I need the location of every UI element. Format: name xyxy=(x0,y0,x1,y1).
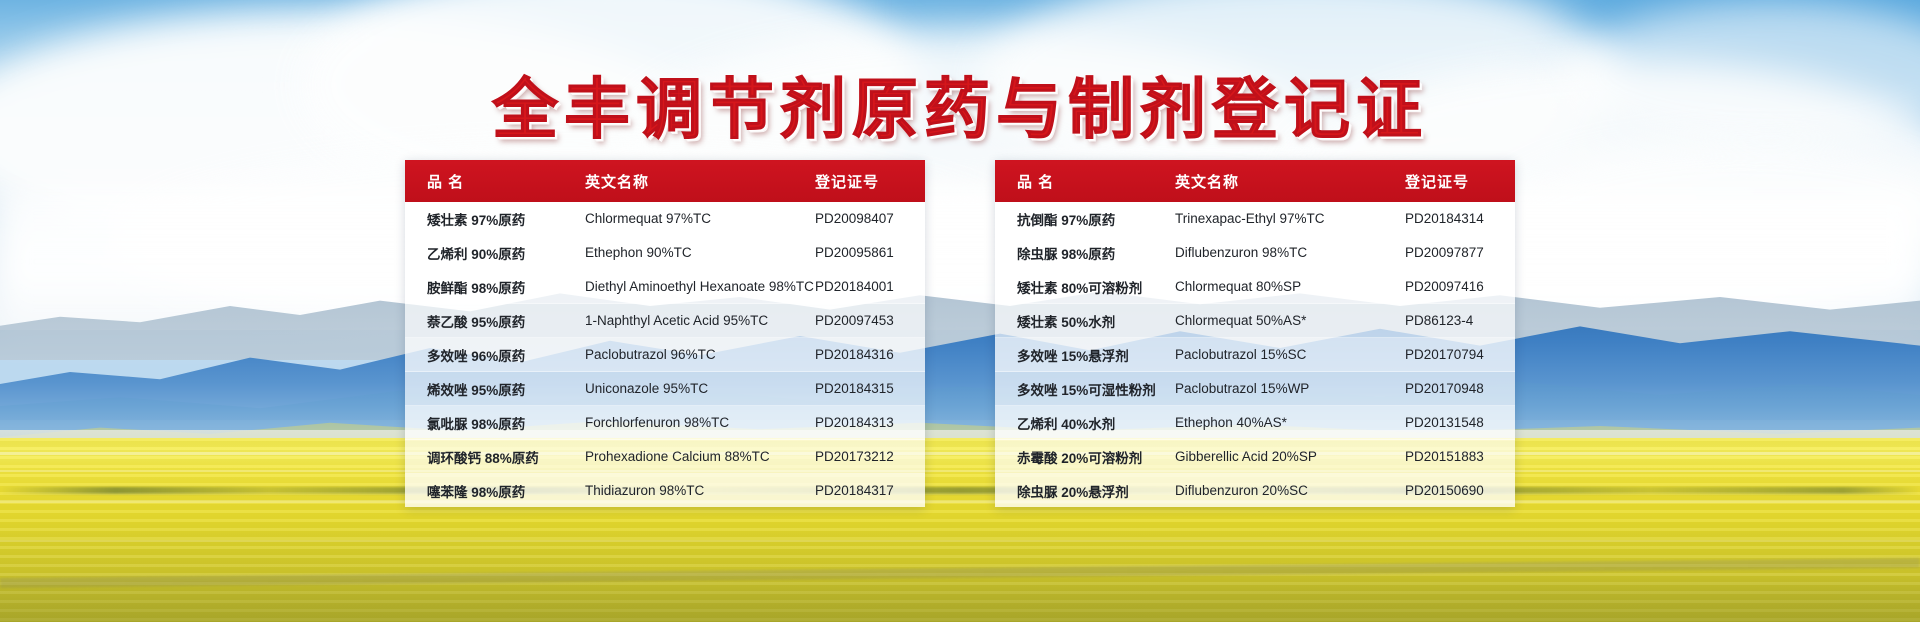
cell-registration-number: PD86123-4 xyxy=(1405,313,1515,328)
table-row: 多效唑 15%悬浮剂Paclobutrazol 15%SCPD20170794 xyxy=(995,338,1515,372)
table-row: 矮壮素 97%原药Chlormequat 97%TCPD20098407 xyxy=(405,202,925,236)
cell-english-name: Chlormequat 97%TC xyxy=(585,211,815,226)
table-body: 矮壮素 97%原药Chlormequat 97%TCPD20098407乙烯利 … xyxy=(405,202,925,507)
cell-english-name: Thidiazuron 98%TC xyxy=(585,483,815,498)
table-header-row: 品 名英文名称登记证号 xyxy=(995,160,1515,202)
table-row: 调环酸钙 88%原药Prohexadione Calcium 88%TCPD20… xyxy=(405,440,925,474)
cell-product-name: 噻苯隆 98%原药 xyxy=(405,481,585,501)
cell-english-name: Prohexadione Calcium 88%TC xyxy=(585,449,815,464)
cell-registration-number: PD20184317 xyxy=(815,483,925,498)
cell-registration-number: PD20184316 xyxy=(815,347,925,362)
treeline xyxy=(0,487,1920,494)
cell-product-name: 多效唑 15%可湿性粉剂 xyxy=(995,379,1175,399)
table-row: 氯吡脲 98%原药Forchlorfenuron 98%TCPD20184313 xyxy=(405,406,925,440)
cell-english-name: Diethyl Aminoethyl Hexanoate 98%TC xyxy=(585,279,815,294)
cell-registration-number: PD20184313 xyxy=(815,415,925,430)
table-row: 烯效唑 95%原药Uniconazole 95%TCPD20184315 xyxy=(405,372,925,406)
registration-table-left: 品 名英文名称登记证号矮壮素 97%原药Chlormequat 97%TCPD2… xyxy=(405,160,925,507)
column-header-product-name: 品 名 xyxy=(995,171,1175,192)
cell-product-name: 调环酸钙 88%原药 xyxy=(405,447,585,467)
cell-product-name: 赤霉酸 20%可溶粉剂 xyxy=(995,447,1175,467)
cell-registration-number: PD20097877 xyxy=(1405,245,1515,260)
table-row: 除虫脲 20%悬浮剂Diflubenzuron 20%SCPD20150690 xyxy=(995,474,1515,507)
cell-registration-number: PD20131548 xyxy=(1405,415,1515,430)
cell-registration-number: PD20151883 xyxy=(1405,449,1515,464)
cell-english-name: Diflubenzuron 98%TC xyxy=(1175,245,1405,260)
cell-english-name: Ethephon 90%TC xyxy=(585,245,815,260)
cell-registration-number: PD20184315 xyxy=(815,381,925,396)
table-row: 多效唑 96%原药Paclobutrazol 96%TCPD20184316 xyxy=(405,338,925,372)
cell-product-name: 烯效唑 95%原药 xyxy=(405,379,585,399)
table-row: 赤霉酸 20%可溶粉剂Gibberellic Acid 20%SPPD20151… xyxy=(995,440,1515,474)
cell-english-name: Chlormequat 80%SP xyxy=(1175,279,1405,294)
field-divider-line xyxy=(0,540,1920,542)
column-header-registration-number: 登记证号 xyxy=(1405,171,1515,192)
cell-english-name: Trinexapac-Ethyl 97%TC xyxy=(1175,211,1405,226)
cell-english-name: Paclobutrazol 15%WP xyxy=(1175,381,1405,396)
table-row: 多效唑 15%可湿性粉剂Paclobutrazol 15%WPPD2017094… xyxy=(995,372,1515,406)
cell-product-name: 矮壮素 50%水剂 xyxy=(995,311,1175,331)
cell-registration-number: PD20173212 xyxy=(815,449,925,464)
cell-registration-number: PD20170794 xyxy=(1405,347,1515,362)
page-title-wrap: 全丰调节剂原药与制剂登记证 xyxy=(0,56,1920,152)
table-row: 抗倒酯 97%原药Trinexapac-Ethyl 97%TCPD2018431… xyxy=(995,202,1515,236)
column-header-english-name: 英文名称 xyxy=(585,171,815,192)
cell-english-name: Diflubenzuron 20%SC xyxy=(1175,483,1405,498)
table-row: 乙烯利 40%水剂Ethephon 40%AS*PD20131548 xyxy=(995,406,1515,440)
cell-registration-number: PD20170948 xyxy=(1405,381,1515,396)
banner-stage: 全丰调节剂原药与制剂登记证 品 名英文名称登记证号矮壮素 97%原药Chlorm… xyxy=(0,0,1920,622)
cell-product-name: 萘乙酸 95%原药 xyxy=(405,311,585,331)
table-row: 除虫脲 98%原药Diflubenzuron 98%TCPD20097877 xyxy=(995,236,1515,270)
cell-product-name: 氯吡脲 98%原药 xyxy=(405,413,585,433)
field-divider-line xyxy=(0,500,1920,503)
table-row: 噻苯隆 98%原药Thidiazuron 98%TCPD20184317 xyxy=(405,474,925,507)
cell-product-name: 多效唑 15%悬浮剂 xyxy=(995,345,1175,365)
cell-english-name: Forchlorfenuron 98%TC xyxy=(585,415,815,430)
field-divider-line xyxy=(0,452,1920,455)
table-row: 矮壮素 50%水剂Chlormequat 50%AS*PD86123-4 xyxy=(995,304,1515,338)
cell-product-name: 除虫脲 98%原药 xyxy=(995,243,1175,263)
cell-product-name: 胺鲜酯 98%原药 xyxy=(405,277,585,297)
cell-registration-number: PD20097453 xyxy=(815,313,925,328)
cell-product-name: 多效唑 96%原药 xyxy=(405,345,585,365)
cell-english-name: Chlormequat 50%AS* xyxy=(1175,313,1405,328)
cell-registration-number: PD20150690 xyxy=(1405,483,1515,498)
column-header-english-name: 英文名称 xyxy=(1175,171,1405,192)
column-header-product-name: 品 名 xyxy=(405,171,585,192)
cell-registration-number: PD20184314 xyxy=(1405,211,1515,226)
table-body: 抗倒酯 97%原药Trinexapac-Ethyl 97%TCPD2018431… xyxy=(995,202,1515,507)
field-bottom-shade xyxy=(0,574,1920,622)
table-row: 矮壮素 80%可溶粉剂Chlormequat 80%SPPD20097416 xyxy=(995,270,1515,304)
table-row: 萘乙酸 95%原药1-Naphthyl Acetic Acid 95%TCPD2… xyxy=(405,304,925,338)
table-header-row: 品 名英文名称登记证号 xyxy=(405,160,925,202)
table-row: 胺鲜酯 98%原药Diethyl Aminoethyl Hexanoate 98… xyxy=(405,270,925,304)
cell-english-name: Uniconazole 95%TC xyxy=(585,381,815,396)
cell-english-name: Ethephon 40%AS* xyxy=(1175,415,1405,430)
registration-table-right: 品 名英文名称登记证号抗倒酯 97%原药Trinexapac-Ethyl 97%… xyxy=(995,160,1515,507)
cell-product-name: 除虫脲 20%悬浮剂 xyxy=(995,481,1175,501)
page-title: 全丰调节剂原药与制剂登记证 xyxy=(492,56,1428,152)
cell-registration-number: PD20184001 xyxy=(815,279,925,294)
cell-product-name: 乙烯利 90%原药 xyxy=(405,243,585,263)
column-header-registration-number: 登记证号 xyxy=(815,171,925,192)
table-row: 乙烯利 90%原药Ethephon 90%TCPD20095861 xyxy=(405,236,925,270)
cell-product-name: 抗倒酯 97%原药 xyxy=(995,209,1175,229)
cell-product-name: 矮壮素 80%可溶粉剂 xyxy=(995,277,1175,297)
cell-english-name: Paclobutrazol 15%SC xyxy=(1175,347,1405,362)
field-divider-line xyxy=(0,470,1920,472)
cell-registration-number: PD20098407 xyxy=(815,211,925,226)
cell-english-name: Paclobutrazol 96%TC xyxy=(585,347,815,362)
cell-english-name: 1-Naphthyl Acetic Acid 95%TC xyxy=(585,313,815,328)
cell-registration-number: PD20095861 xyxy=(815,245,925,260)
cell-product-name: 矮壮素 97%原药 xyxy=(405,209,585,229)
cell-product-name: 乙烯利 40%水剂 xyxy=(995,413,1175,433)
cell-english-name: Gibberellic Acid 20%SP xyxy=(1175,449,1405,464)
cell-registration-number: PD20097416 xyxy=(1405,279,1515,294)
